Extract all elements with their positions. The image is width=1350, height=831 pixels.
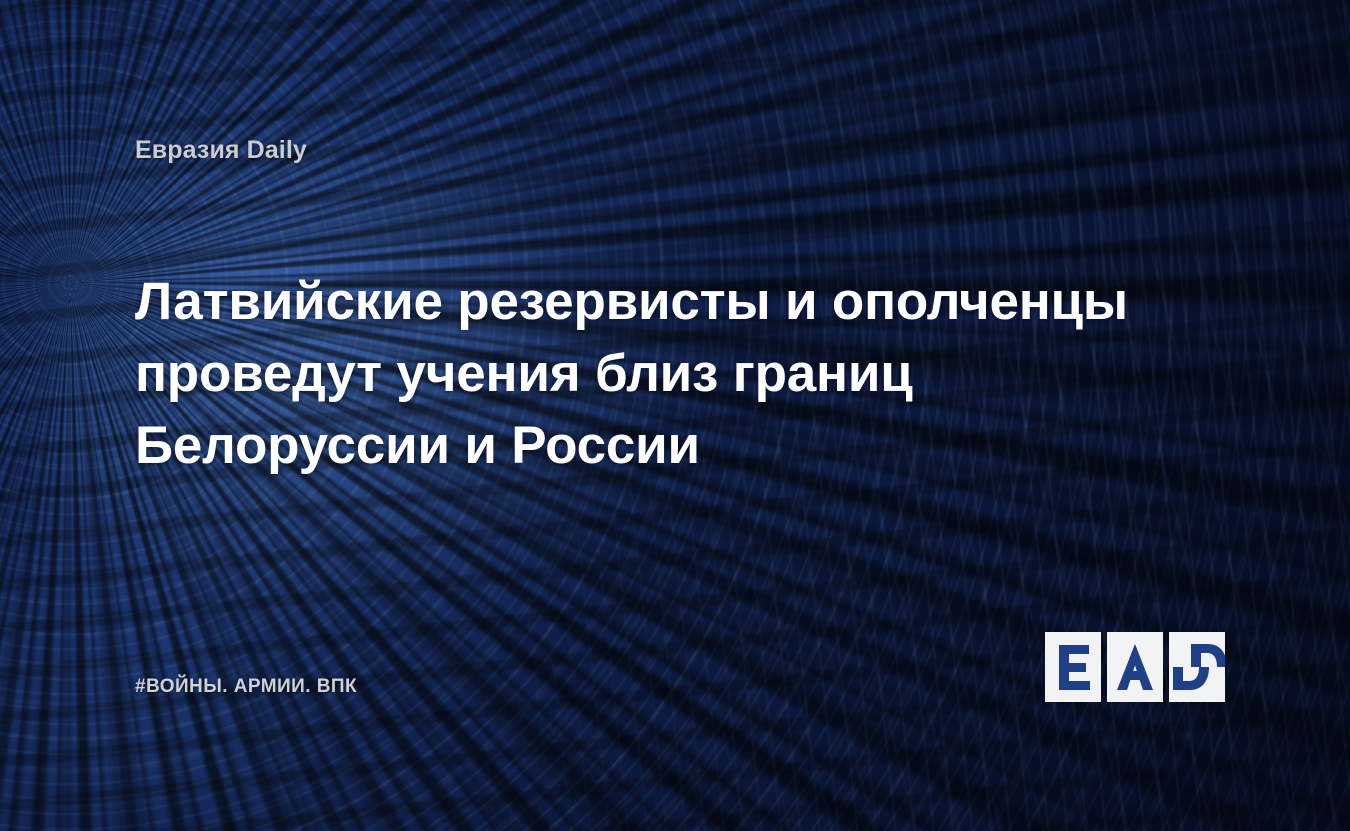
card-content: Евразия Daily Латвийские резервисты и оп… [0,0,1350,831]
logo-tile-d [1169,632,1225,702]
page-title: Латвийские резервисты и ополченцы провед… [135,266,1215,482]
letter-d-glyph-top [1178,632,1225,667]
eadaily-logo [1045,632,1225,702]
news-share-card: Евразия Daily Латвийские резервисты и оп… [0,0,1350,831]
logo-tile-e [1045,632,1101,702]
brand-wordmark: Евразия Daily [135,136,307,165]
letter-a-glyph [1107,632,1163,702]
headline-line-2: проведут учения близ границ [135,338,1215,410]
logo-tile-a [1107,632,1163,702]
letter-d-bottom-half [1169,667,1225,702]
category-hashtag: #ВОЙНЫ. АРМИИ. ВПК [135,676,357,698]
headline-line-1: Латвийские резервисты и ополченцы [135,266,1215,338]
headline-line-3: Белоруссии и России [135,410,1215,482]
letter-e-glyph [1045,632,1101,702]
letter-d-glyph-bottom [1169,667,1216,702]
letter-d-top-half [1169,632,1225,667]
